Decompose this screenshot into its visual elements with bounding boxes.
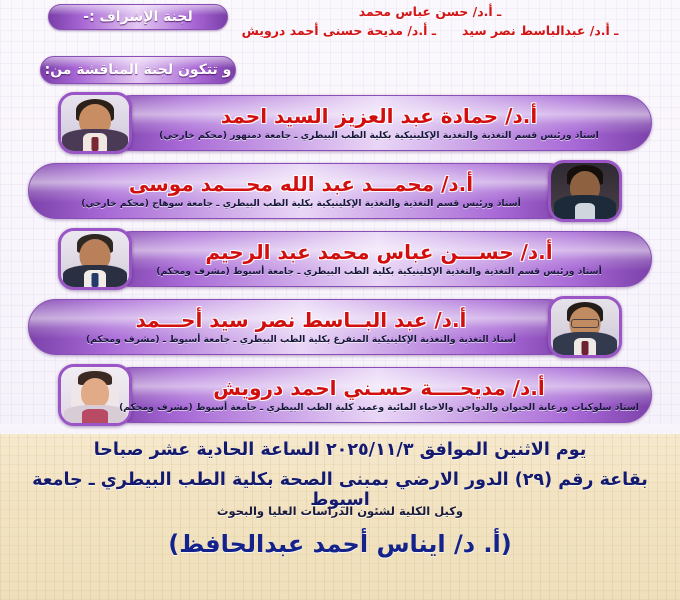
member-text: أ.د/ حمادة عبد العزيز السيد احمد استاذ و… <box>118 98 640 148</box>
supervision-committee-pill: لجنة الإشراف :- <box>48 4 228 30</box>
signatory-role: وكيل الكلية لشئون الدراسات العليا والبحو… <box>0 504 680 518</box>
member-text: أ.د/ محمـــد عبد الله محـــمد موسى أستاذ… <box>40 166 562 216</box>
discussion-committee-pill: و تتكون لجنة المناقشة من: <box>40 56 236 84</box>
committee-member-row: أ.د/ عبد البــاسط نصر سيد أحـــمد أستاذ … <box>0 296 680 358</box>
committee-member-row: أ.د/ حســـن عباس محمد عبد الرحيم أستاذ و… <box>0 228 680 290</box>
supervision-name-madeha: ـ أ.د/ مديحة حسنى أحمد درويش <box>242 21 436 40</box>
member-text: أ.د/ حســـن عباس محمد عبد الرحيم أستاذ و… <box>118 234 640 284</box>
supervision-committee-names: ـ أ.د/ حسن عباس محمد ـ أ.د/ عبدالباسط نص… <box>240 2 620 40</box>
member-title: استاذ سلوكيات ورعاية الحيوان والدواجن وا… <box>119 401 639 414</box>
supervision-name-abdelbaset: ـ أ.د/ عبدالباسط نصر سيد <box>462 21 618 40</box>
member-text: أ.د/ عبد البــاسط نصر سيد أحـــمد أستاذ … <box>40 302 562 352</box>
event-date-line: يوم الاثنين الموافق ٢٠٢٥/١١/٣ الساعة الح… <box>0 440 680 460</box>
supervision-name-line-1: ـ أ.د/ حسن عباس محمد <box>240 2 620 21</box>
member-name: أ.د/ حســـن عباس محمد عبد الرحيم <box>205 240 552 264</box>
committee-member-row: أ.د/ محمـــد عبد الله محـــمد موسى أستاذ… <box>0 160 680 222</box>
supervision-name-line-2: ـ أ.د/ عبدالباسط نصر سيد ـ أ.د/ مديحة حس… <box>240 21 620 40</box>
member-name: أ.د/ مديحــــة حسـني احمد درويش <box>213 376 544 400</box>
member-title: أستاذ ورئيس قسم التغذية والتغذية الإكلين… <box>81 197 521 210</box>
member-name: أ.د/ عبد البــاسط نصر سيد أحـــمد <box>136 308 467 332</box>
member-title: استاذ ورئيس قسم التغذية والتغذية الإكلين… <box>159 129 599 142</box>
signatory-name: (أ. د/ ايناس أحمد عبدالحافظ) <box>0 530 680 558</box>
member-name: أ.د/ حمادة عبد العزيز السيد احمد <box>221 104 537 128</box>
committee-member-row: أ.د/ مديحــــة حسـني احمد درويش استاذ سل… <box>0 364 680 426</box>
committee-member-row: أ.د/ حمادة عبد العزيز السيد احمد استاذ و… <box>0 92 680 154</box>
member-name: أ.د/ محمـــد عبد الله محـــمد موسى <box>129 172 473 196</box>
member-title: أستاذ ورئيس قسم التغذية والتغذية الإكلين… <box>156 265 602 278</box>
member-title: أستاذ التغذية والتغذية الإكلينيكية المتف… <box>86 333 516 346</box>
announcement-poster: لجنة الإشراف :- ـ أ.د/ حسن عباس محمد ـ أ… <box>0 0 680 600</box>
member-text: أ.د/ مديحــــة حسـني احمد درويش استاذ سل… <box>118 370 640 420</box>
